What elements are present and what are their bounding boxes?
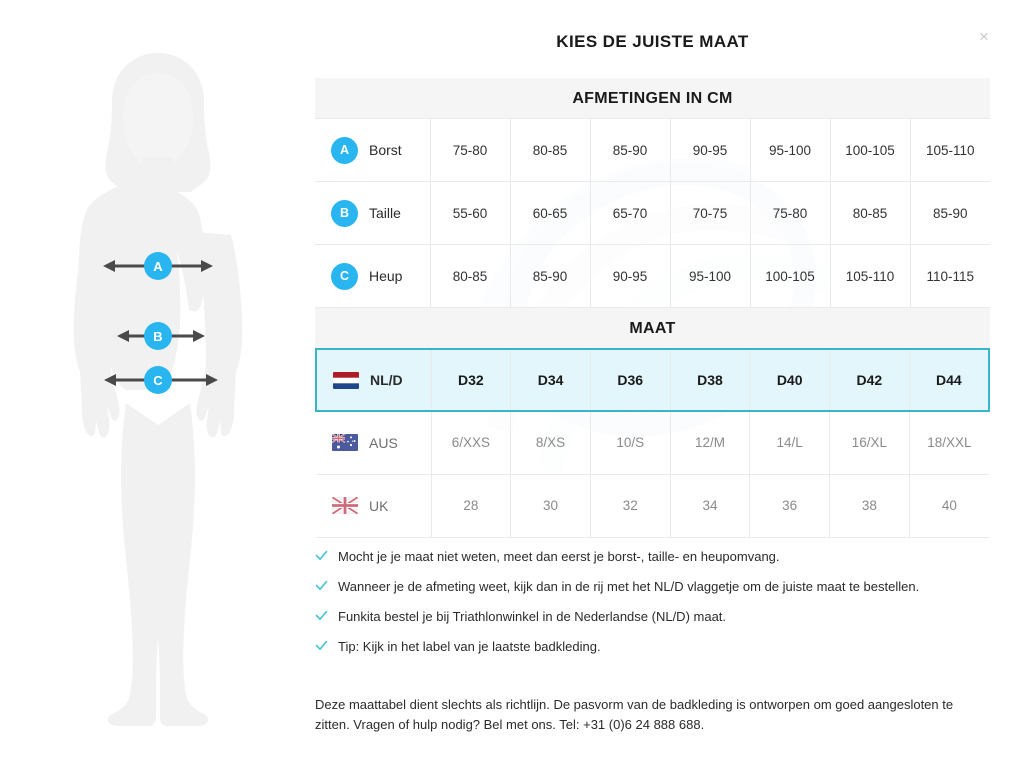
cell: 40: [909, 474, 989, 537]
flag-aus-icon: [332, 434, 358, 451]
cell: 80-85: [510, 119, 590, 182]
cell: 10/S: [590, 411, 670, 474]
cell: 65-70: [590, 182, 670, 245]
flag-nl-icon: [333, 372, 359, 389]
cell: 95-100: [750, 119, 830, 182]
sizes-table: NL/D D32 D34 D36 D38 D40 D42 D44: [315, 348, 990, 538]
list-item: Wanneer je de afmeting weet, kijk dan in…: [315, 578, 995, 596]
measurements-table: A Borst 75-80 80-85 85-90 90-95 95-100 1…: [315, 118, 990, 308]
table-row-nld[interactable]: NL/D D32 D34 D36 D38 D40 D42 D44: [316, 349, 989, 411]
list-item-text: Tip: Kijk in het label van je laatste ba…: [338, 638, 601, 656]
cell: 38: [830, 474, 910, 537]
cell: 36: [750, 474, 830, 537]
list-item-text: Wanneer je de afmeting weet, kijk dan in…: [338, 578, 919, 596]
cell: 110-115: [910, 245, 990, 308]
row-label-aus: AUS: [316, 411, 431, 474]
table-row: A Borst 75-80 80-85 85-90 90-95 95-100 1…: [315, 119, 990, 182]
row-label-taille: B Taille: [315, 182, 430, 245]
cell: 85-90: [510, 245, 590, 308]
measurements-heading: AFMETINGEN IN CM: [315, 78, 990, 118]
cell: 90-95: [670, 119, 750, 182]
cell: 8/XS: [511, 411, 591, 474]
cell: 80-85: [430, 245, 510, 308]
table-row-aus: AUS 6/XXS 8/XS 10/S 12/M 14/L 16/XL 18/X…: [316, 411, 989, 474]
cell: 100-105: [750, 245, 830, 308]
row-label-nld: NL/D: [316, 349, 431, 411]
cell: 18/XXL: [909, 411, 989, 474]
table-row: C Heup 80-85 85-90 90-95 95-100 100-105 …: [315, 245, 990, 308]
list-item-text: Mocht je je maat niet weten, meet dan ee…: [338, 548, 780, 566]
cell: 75-80: [750, 182, 830, 245]
cell: 34: [670, 474, 750, 537]
badge-b-icon: B: [331, 200, 358, 227]
check-icon: [315, 609, 328, 622]
row-label-text: NL/D: [370, 372, 403, 388]
list-item: Funkita bestel je bij Triathlonwinkel in…: [315, 608, 995, 626]
badge-a-icon: A: [331, 137, 358, 164]
size-tables: AFMETINGEN IN CM A Borst 75-80 80-85 85-…: [315, 78, 990, 538]
disclaimer-text: Deze maattabel dient slechts als richtli…: [315, 695, 987, 735]
row-label-text: Heup: [369, 268, 402, 284]
cell: D34: [511, 349, 591, 411]
tips-list: Mocht je je maat niet weten, meet dan ee…: [315, 548, 995, 668]
cell: D42: [830, 349, 910, 411]
row-label-borst: A Borst: [315, 119, 430, 182]
list-item: Mocht je je maat niet weten, meet dan ee…: [315, 548, 995, 566]
marker-badge-c: C: [144, 366, 172, 394]
cell: 6/XXS: [431, 411, 511, 474]
check-icon: [315, 579, 328, 592]
check-icon: [315, 549, 328, 562]
list-item: Tip: Kijk in het label van je laatste ba…: [315, 638, 995, 656]
cell: 60-65: [510, 182, 590, 245]
cell: 75-80: [430, 119, 510, 182]
row-label-uk: UK: [316, 474, 431, 537]
cell: 85-90: [910, 182, 990, 245]
marker-badge-a: A: [144, 252, 172, 280]
cell: 30: [511, 474, 591, 537]
list-item-text: Funkita bestel je bij Triathlonwinkel in…: [338, 608, 726, 626]
row-label-text: Taille: [369, 205, 401, 221]
cell: D44: [909, 349, 989, 411]
cell: 95-100: [670, 245, 750, 308]
cell: 16/XL: [830, 411, 910, 474]
sizes-heading: MAAT: [315, 308, 990, 348]
flag-uk-icon: [332, 497, 358, 514]
cell: 85-90: [590, 119, 670, 182]
size-guide-modal: × KIES DE JUISTE MAAT: [0, 0, 1020, 761]
row-label-text: Borst: [369, 142, 402, 158]
cell: D36: [590, 349, 670, 411]
cell: D32: [431, 349, 511, 411]
cell: 90-95: [590, 245, 670, 308]
row-label-heup: C Heup: [315, 245, 430, 308]
body-diagram: A B C: [0, 0, 315, 761]
cell: 70-75: [670, 182, 750, 245]
table-row: B Taille 55-60 60-65 65-70 70-75 75-80 8…: [315, 182, 990, 245]
cell: 32: [590, 474, 670, 537]
page-title: KIES DE JUISTE MAAT: [315, 32, 990, 52]
row-label-text: UK: [369, 498, 388, 514]
table-row-uk: UK 28 30 32 34 36 38 40: [316, 474, 989, 537]
cell: 14/L: [750, 411, 830, 474]
cell: D40: [750, 349, 830, 411]
badge-c-icon: C: [331, 263, 358, 290]
cell: 105-110: [830, 245, 910, 308]
row-label-text: AUS: [369, 435, 398, 451]
cell: 100-105: [830, 119, 910, 182]
cell: 80-85: [830, 182, 910, 245]
check-icon: [315, 639, 328, 652]
marker-badge-b: B: [144, 322, 172, 350]
cell: 55-60: [430, 182, 510, 245]
cell: 28: [431, 474, 511, 537]
cell: D38: [670, 349, 750, 411]
cell: 12/M: [670, 411, 750, 474]
cell: 105-110: [910, 119, 990, 182]
